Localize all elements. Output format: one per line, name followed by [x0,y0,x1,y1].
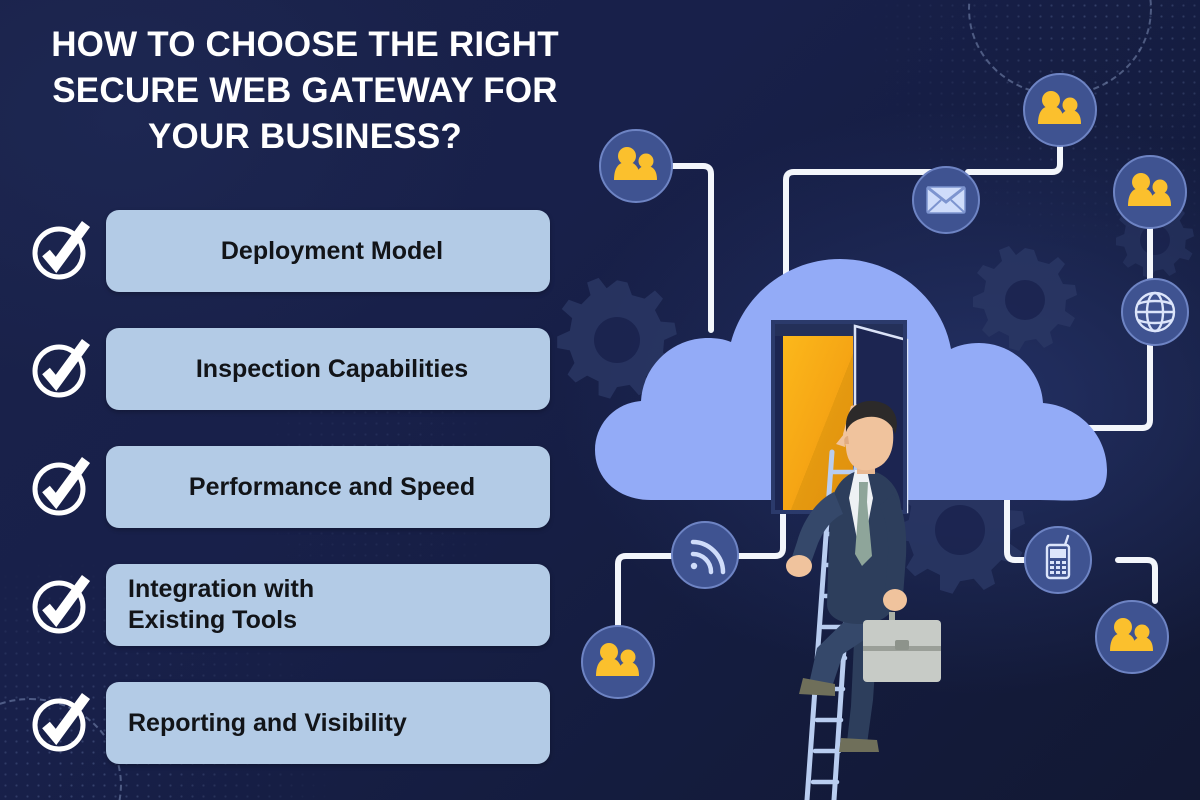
check-circle-icon [30,456,92,518]
node-rss-bottom-left[interactable] [672,522,738,588]
checklist-pill[interactable]: Reporting and Visibility [106,682,550,764]
node-mobile-bottom-right[interactable] [1025,527,1091,593]
list-item[interactable]: Reporting and Visibility [30,681,550,765]
cloud-network-illustration [555,0,1200,800]
checklist: Deployment Model Inspection Capabilities [30,209,550,765]
list-item[interactable]: Performance and Speed [30,445,550,529]
node-users-top-left[interactable] [600,130,672,202]
checklist-label: Deployment Model [128,236,536,267]
node-mail-top-center[interactable] [913,167,979,233]
connector-users-top-left [672,166,711,330]
checklist-label: Inspection Capabilities [128,354,536,385]
infographic-canvas: HOW TO CHOOSE THE RIGHT SECURE WEB GATEW… [0,0,1200,800]
list-item[interactable]: Inspection Capabilities [30,327,550,411]
checklist-pill[interactable]: Integration with Existing Tools [106,564,550,646]
check-circle-icon [30,574,92,636]
connector-globe-to-cloud [1075,345,1150,428]
checklist-label: Integration with Existing Tools [128,574,314,636]
node-users-bottom-right[interactable] [1096,601,1168,673]
checklist-label: Performance and Speed [128,472,536,503]
node-users-right-upper[interactable] [1114,156,1186,228]
node-users-top-right[interactable] [1024,74,1096,146]
connector-rss-to-users [618,556,675,626]
checklist-pill[interactable]: Performance and Speed [106,446,550,528]
check-circle-icon [30,338,92,400]
check-circle-icon [30,692,92,754]
list-item[interactable]: Integration with Existing Tools [30,563,550,647]
list-item[interactable]: Deployment Model [30,209,550,293]
check-circle-icon [30,220,92,282]
connector-mobile-to-users [1118,560,1155,601]
node-users-bottom-left[interactable] [582,626,654,698]
briefcase [863,612,941,682]
node-globe-right[interactable] [1122,279,1188,345]
page-title: HOW TO CHOOSE THE RIGHT SECURE WEB GATEW… [0,22,610,160]
envelope-icon [927,187,965,213]
checklist-label: Reporting and Visibility [128,708,407,739]
gear-icon [973,246,1077,351]
checklist-pill[interactable]: Deployment Model [106,210,550,292]
checklist-pill[interactable]: Inspection Capabilities [106,328,550,410]
